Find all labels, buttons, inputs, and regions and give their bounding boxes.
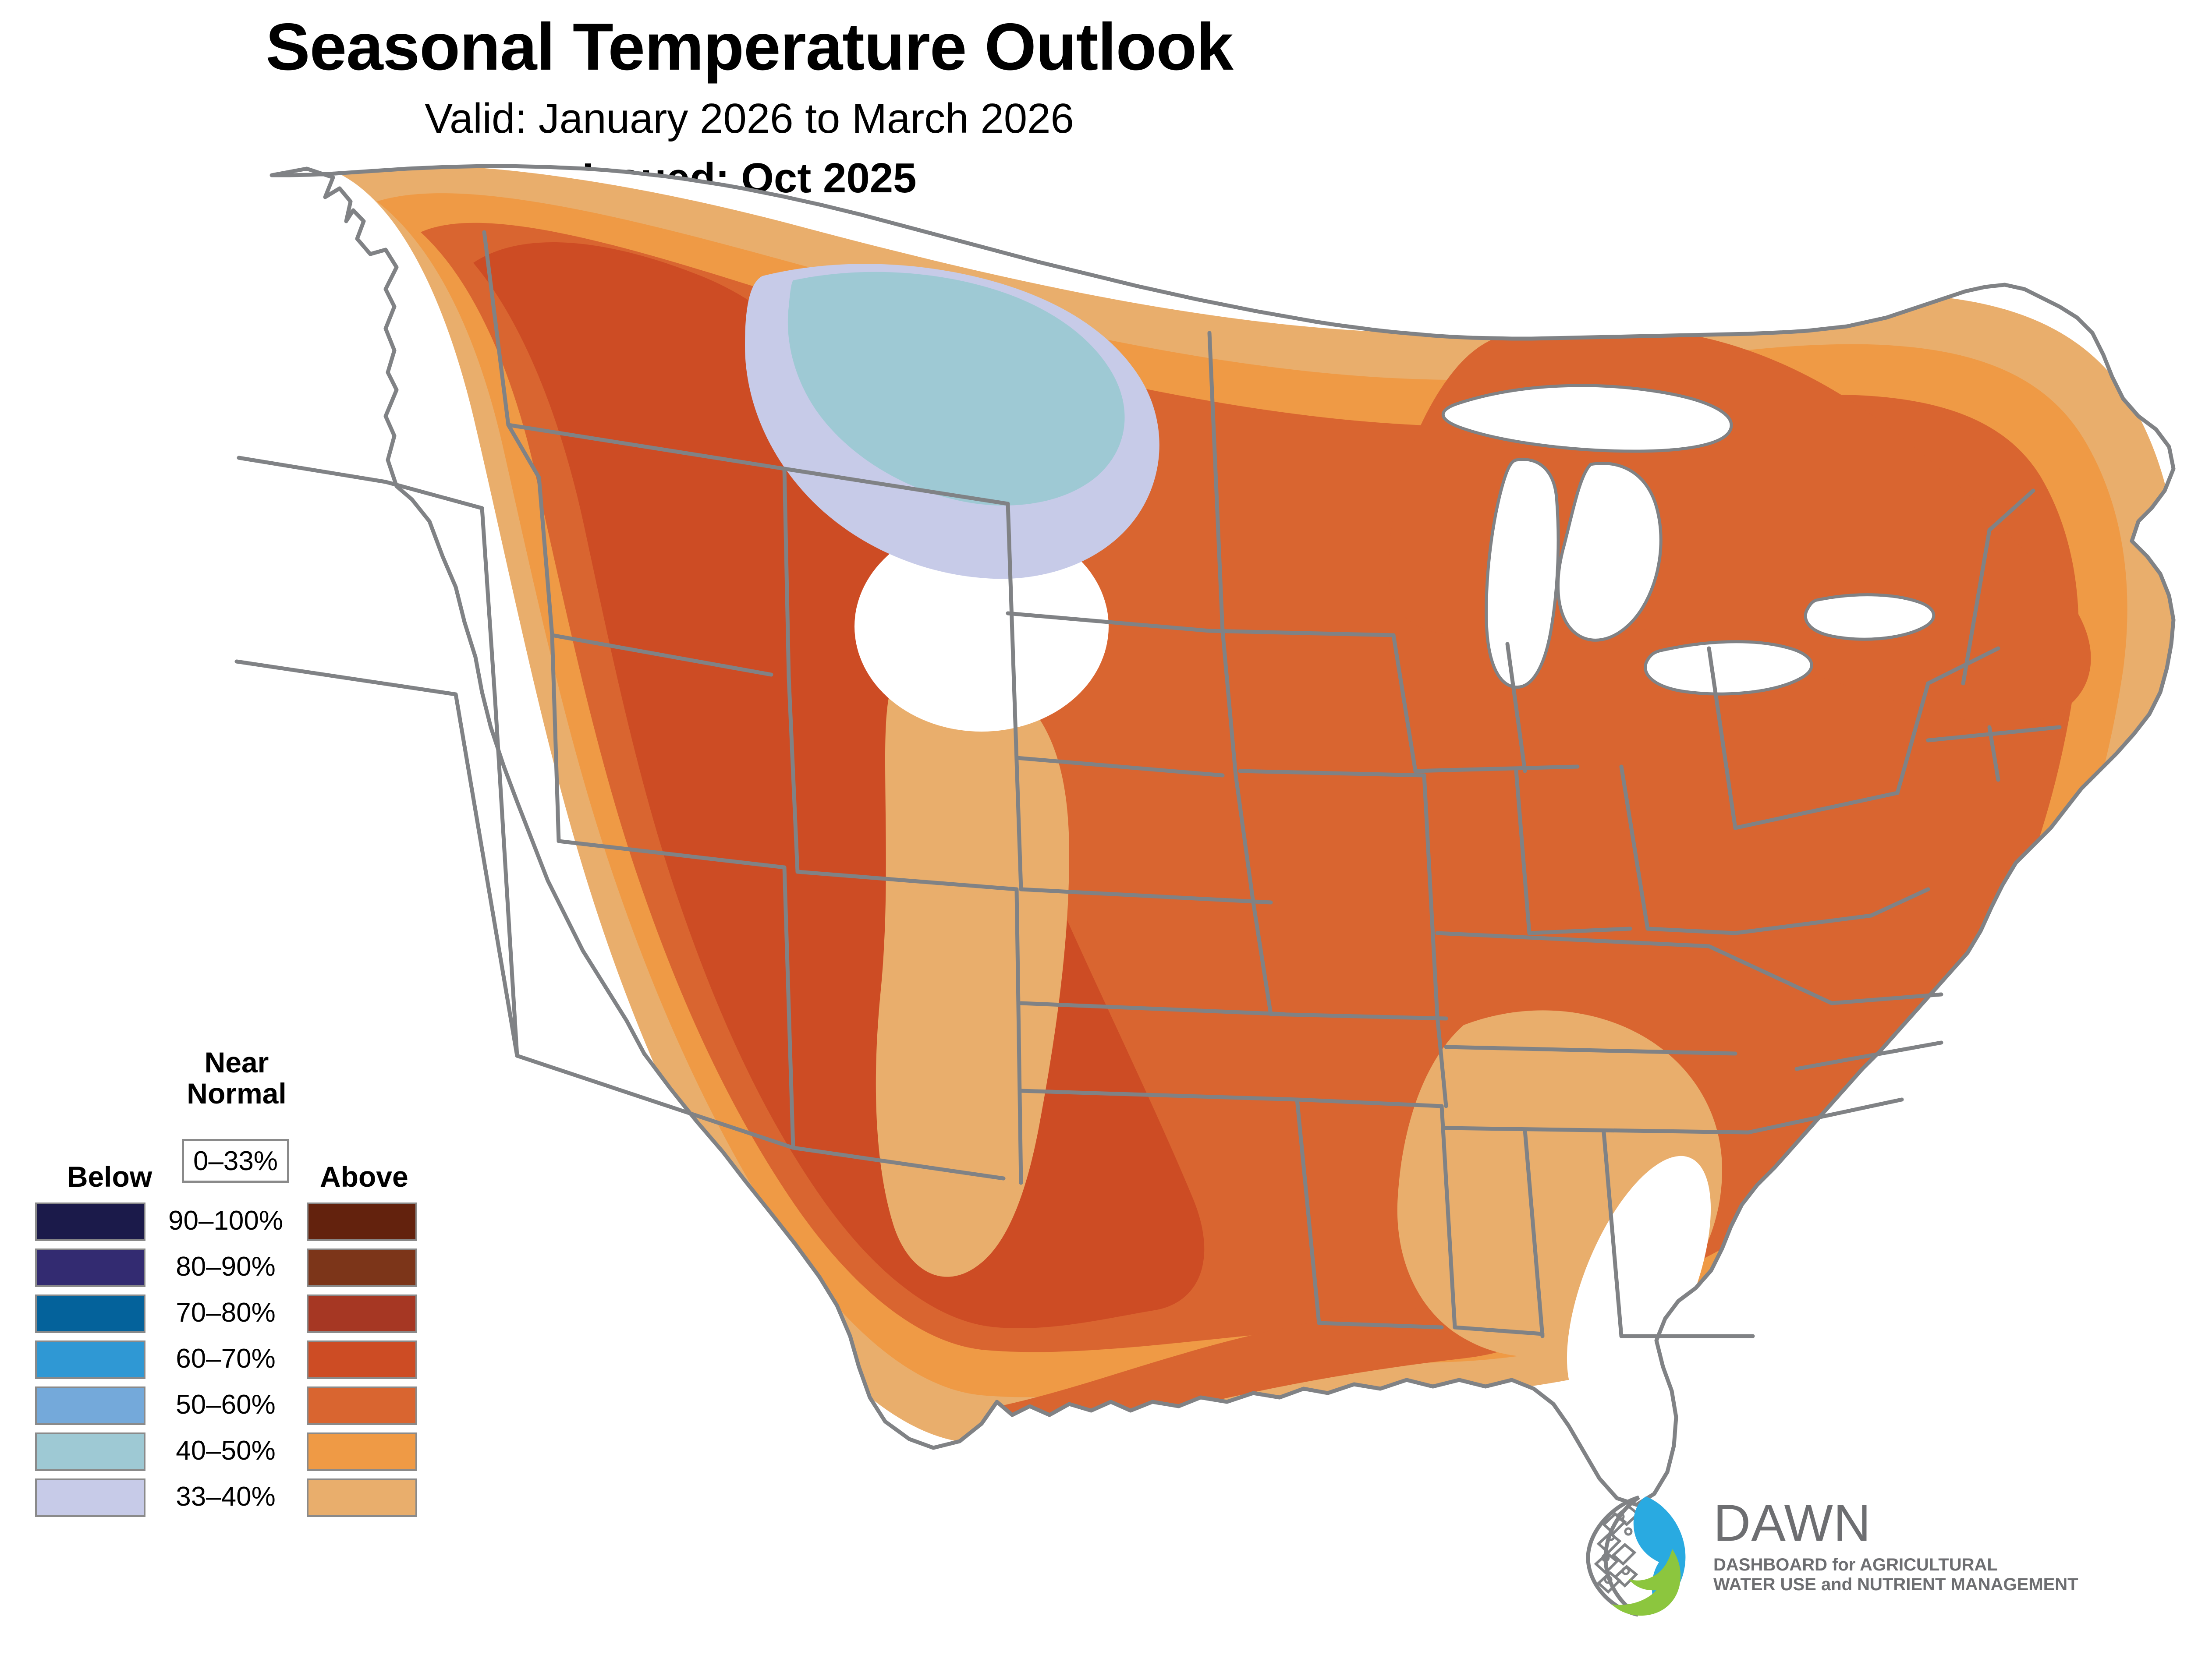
legend-equal-chances-swatch: 0–33% [182,1139,289,1183]
legend-range-label: 33–40% [153,1481,298,1512]
legend-below-heading: Below [61,1160,158,1193]
legend-above-heading: Above [320,1160,429,1193]
dawn-tagline-line2: WATER USE and NUTRIENT MANAGEMENT [1713,1575,2016,1595]
legend-range-label: 40–50% [153,1435,298,1466]
legend-range-label: 70–80% [153,1297,298,1328]
legend-near-normal-title: NearNormal [171,1047,302,1110]
band-below-33-40-nocal-coast [160,686,244,983]
legend-swatch-below-1 [35,1249,145,1287]
legend-range-label: 90–100% [153,1205,298,1236]
lake-ontario [1805,595,1934,640]
legend-swatch-below-2 [35,1294,145,1333]
legend-swatch-above-2 [307,1294,417,1333]
legend-swatch-below-4 [35,1386,145,1425]
legend-row: 90–100% [26,1203,447,1241]
dawn-logo-mark [1573,1489,1705,1621]
legend-row: 50–60% [26,1386,447,1425]
legend-row: 33–40% [26,1478,447,1517]
dawn-tagline-line1: DASHBOARD for AGRICULTURAL [1713,1555,2016,1575]
legend-swatch-above-4 [307,1386,417,1425]
legend-rows: 90–100%80–90%70–80%60–70%50–60%40–50%33–… [26,1203,447,1524]
legend-swatch-above-6 [307,1478,417,1517]
legend: NearNormal 0–33% Below Above 90–100%80–9… [26,1047,447,1660]
dawn-wordmark: DAWN [1713,1497,2016,1549]
page-title: Seasonal Temperature Outlook [0,13,1499,81]
legend-swatch-above-0 [307,1203,417,1241]
legend-row: 60–70% [26,1340,447,1379]
valid-period-text: Valid: January 2026 to March 2026 [0,92,1499,145]
legend-swatch-above-1 [307,1249,417,1287]
legend-range-label: 60–70% [153,1343,298,1374]
legend-swatch-above-3 [307,1340,417,1379]
legend-row: 70–80% [26,1294,447,1333]
legend-equal-chances-label: 0–33% [193,1146,278,1177]
legend-row: 40–50% [26,1432,447,1471]
globe-grid-icon [1588,1497,1639,1615]
legend-swatch-below-0 [35,1203,145,1241]
legend-swatch-below-5 [35,1432,145,1471]
legend-swatch-above-5 [307,1432,417,1471]
legend-range-label: 80–90% [153,1251,298,1282]
legend-range-label: 50–60% [153,1389,298,1420]
legend-swatch-below-3 [35,1340,145,1379]
legend-swatch-below-6 [35,1478,145,1517]
legend-row: 80–90% [26,1249,447,1287]
dawn-logo-text: DAWN DASHBOARD for AGRICULTURAL WATER US… [1713,1497,2016,1595]
dawn-logo: DAWN DASHBOARD for AGRICULTURAL WATER US… [1573,1489,2016,1634]
